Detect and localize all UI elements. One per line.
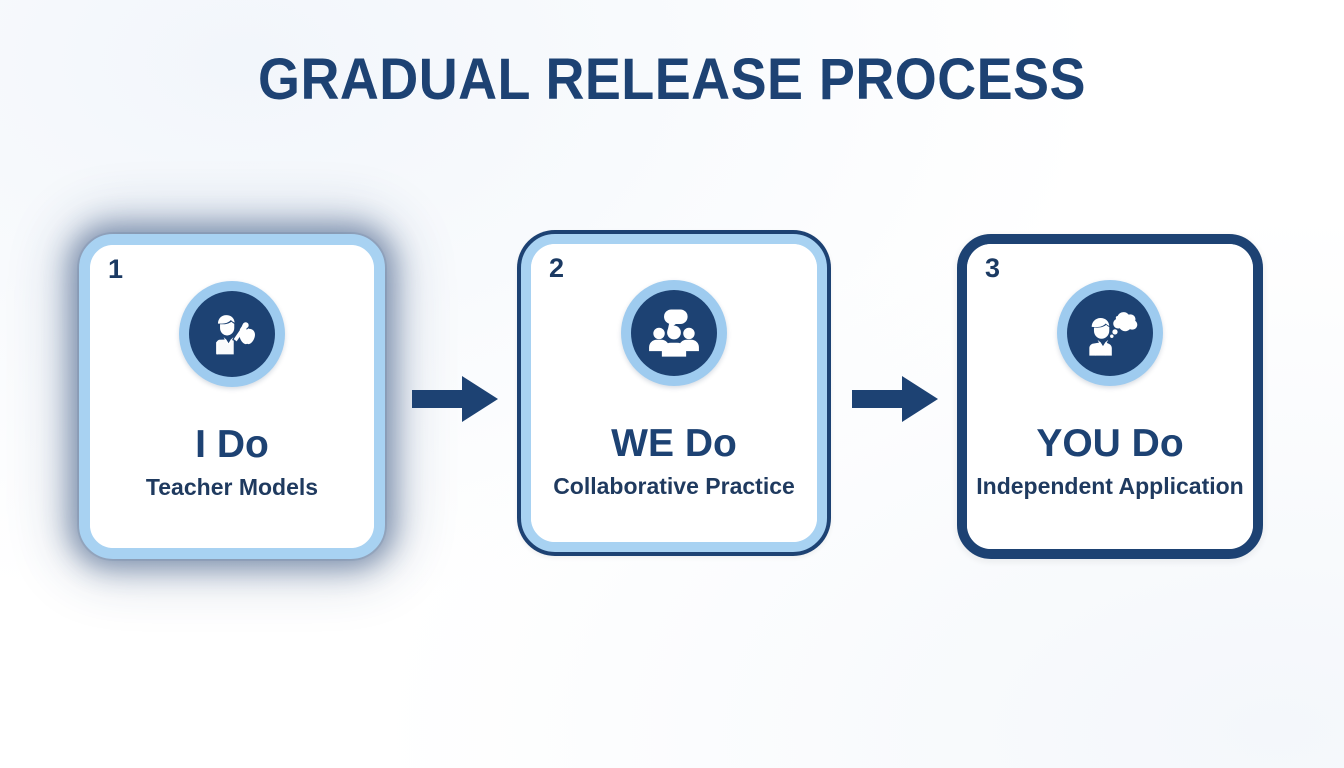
process-card-step-2[interactable]: 2 <box>521 234 827 552</box>
slide-canvas: GRADUAL RELEASE PROCESS 1 <box>0 0 1344 768</box>
card-heading-2: WE Do <box>531 422 817 466</box>
card-subtitle-2: Collaborative Practice <box>531 472 817 500</box>
arrow-step-1-to-2 <box>412 374 498 424</box>
card-heading-3: YOU Do <box>967 422 1253 466</box>
group-of-people-speech-bubble-icon <box>631 290 717 376</box>
step-number-badge: 3 <box>985 255 1000 282</box>
process-card-step-3[interactable]: 3 <box>957 234 1263 559</box>
card-content-1: 1 <box>90 245 374 548</box>
card-subtitle-1: Teacher Models <box>90 473 374 501</box>
person-thought-bubble-icon <box>1067 290 1153 376</box>
icon-badge-3 <box>1057 280 1163 386</box>
card-heading-1: I Do <box>90 423 374 467</box>
card-subtitle-3: Independent Application <box>967 472 1253 500</box>
card-content-3: 3 <box>967 244 1253 549</box>
icon-badge-2 <box>621 280 727 386</box>
process-card-step-1[interactable]: 1 <box>79 234 385 559</box>
card-content-2: 2 <box>531 244 817 542</box>
teacher-raising-hand-apple-icon <box>189 291 275 377</box>
step-number-badge: 1 <box>108 256 123 283</box>
step-number-badge: 2 <box>549 255 564 282</box>
process-steps-row: 1 <box>0 0 1344 768</box>
arrow-step-2-to-3 <box>852 374 938 424</box>
icon-badge-1 <box>179 281 285 387</box>
